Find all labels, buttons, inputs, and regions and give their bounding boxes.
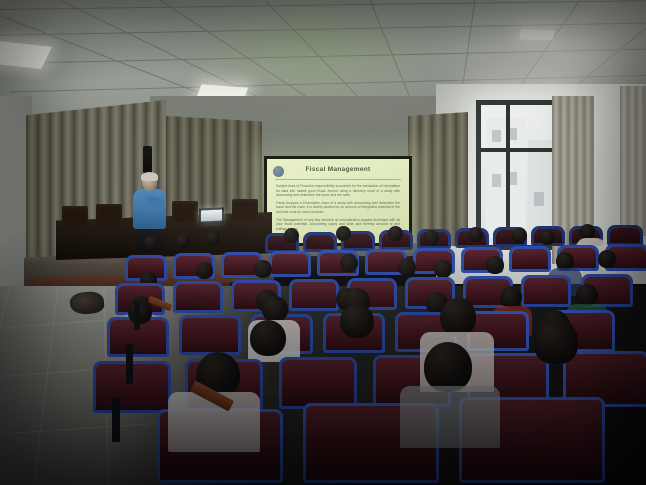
slide-paragraph-1: Subject Area of Financial responsibility… — [276, 184, 400, 198]
seat-row3-2 — [176, 284, 220, 312]
seat-row4-2 — [182, 318, 238, 354]
seat-leg-2 — [134, 300, 140, 330]
audience-head-f11 — [580, 224, 595, 239]
audience-head-m3 — [254, 260, 272, 278]
lecture-hall-photo: Fiscal Management Subject Area of Financ… — [0, 0, 646, 485]
audience-head-f3 — [206, 231, 220, 245]
seat-mid-9 — [512, 249, 548, 271]
seat-row3-8 — [524, 278, 568, 306]
panel-chair-4 — [232, 199, 258, 220]
audience-head-f8 — [468, 227, 483, 242]
curtain-front-right — [408, 112, 468, 247]
seat-far-2 — [306, 235, 334, 251]
audience-head-r4b — [262, 296, 288, 322]
audience-head-m9 — [598, 250, 616, 268]
seat-mid-4 — [272, 254, 308, 276]
audience-head-r5d-long-hair — [534, 318, 578, 364]
audience-head-m5 — [398, 258, 416, 276]
seat-row3-4 — [292, 282, 336, 310]
panel-chair-2 — [96, 204, 122, 226]
panel-chair-1 — [62, 206, 88, 228]
slide-title-rule — [275, 179, 401, 180]
presenter-laptop — [199, 207, 224, 224]
audience-head-f1 — [144, 236, 158, 250]
slide-title: Fiscal Management — [267, 166, 409, 173]
audience-head-m7 — [486, 256, 504, 274]
audience-head-f5 — [336, 226, 351, 241]
audience-head-f7 — [424, 230, 439, 245]
audience-head-m4 — [340, 254, 358, 272]
audience-head-r4a — [128, 300, 152, 324]
audience-head-f2 — [176, 234, 190, 248]
seat-leg-1 — [126, 344, 133, 384]
ceiling-light-4 — [519, 29, 555, 40]
seat-far-10 — [610, 228, 640, 245]
seat-row5-3 — [282, 360, 354, 408]
laptop-screen — [201, 209, 222, 221]
curtain-window-right — [620, 86, 646, 236]
presenter-hair — [141, 172, 158, 181]
audience-head-m2 — [196, 262, 213, 279]
audience-head-f10 — [540, 230, 555, 245]
panel-chair-3 — [172, 201, 198, 222]
audience-head-front-2 — [424, 342, 472, 392]
audience-head-r5b — [340, 304, 374, 338]
audience-head-r5c — [440, 298, 476, 336]
slide-paragraph-2: Fiscal Analysis a Descriptive chart of a… — [276, 201, 400, 215]
seat-leg-3 — [112, 398, 120, 442]
audience-head-r5a — [250, 320, 286, 356]
audience-head-f6 — [388, 226, 403, 241]
audience-shirt-front-2-grey — [400, 386, 500, 448]
audience-head-m6 — [434, 260, 452, 278]
audience-head-f9 — [512, 228, 527, 243]
audience-head-r3f — [576, 284, 598, 306]
audience-head-f4 — [284, 228, 299, 243]
audience-head-r3e — [500, 286, 522, 308]
wall-mounted-speaker — [143, 146, 152, 173]
